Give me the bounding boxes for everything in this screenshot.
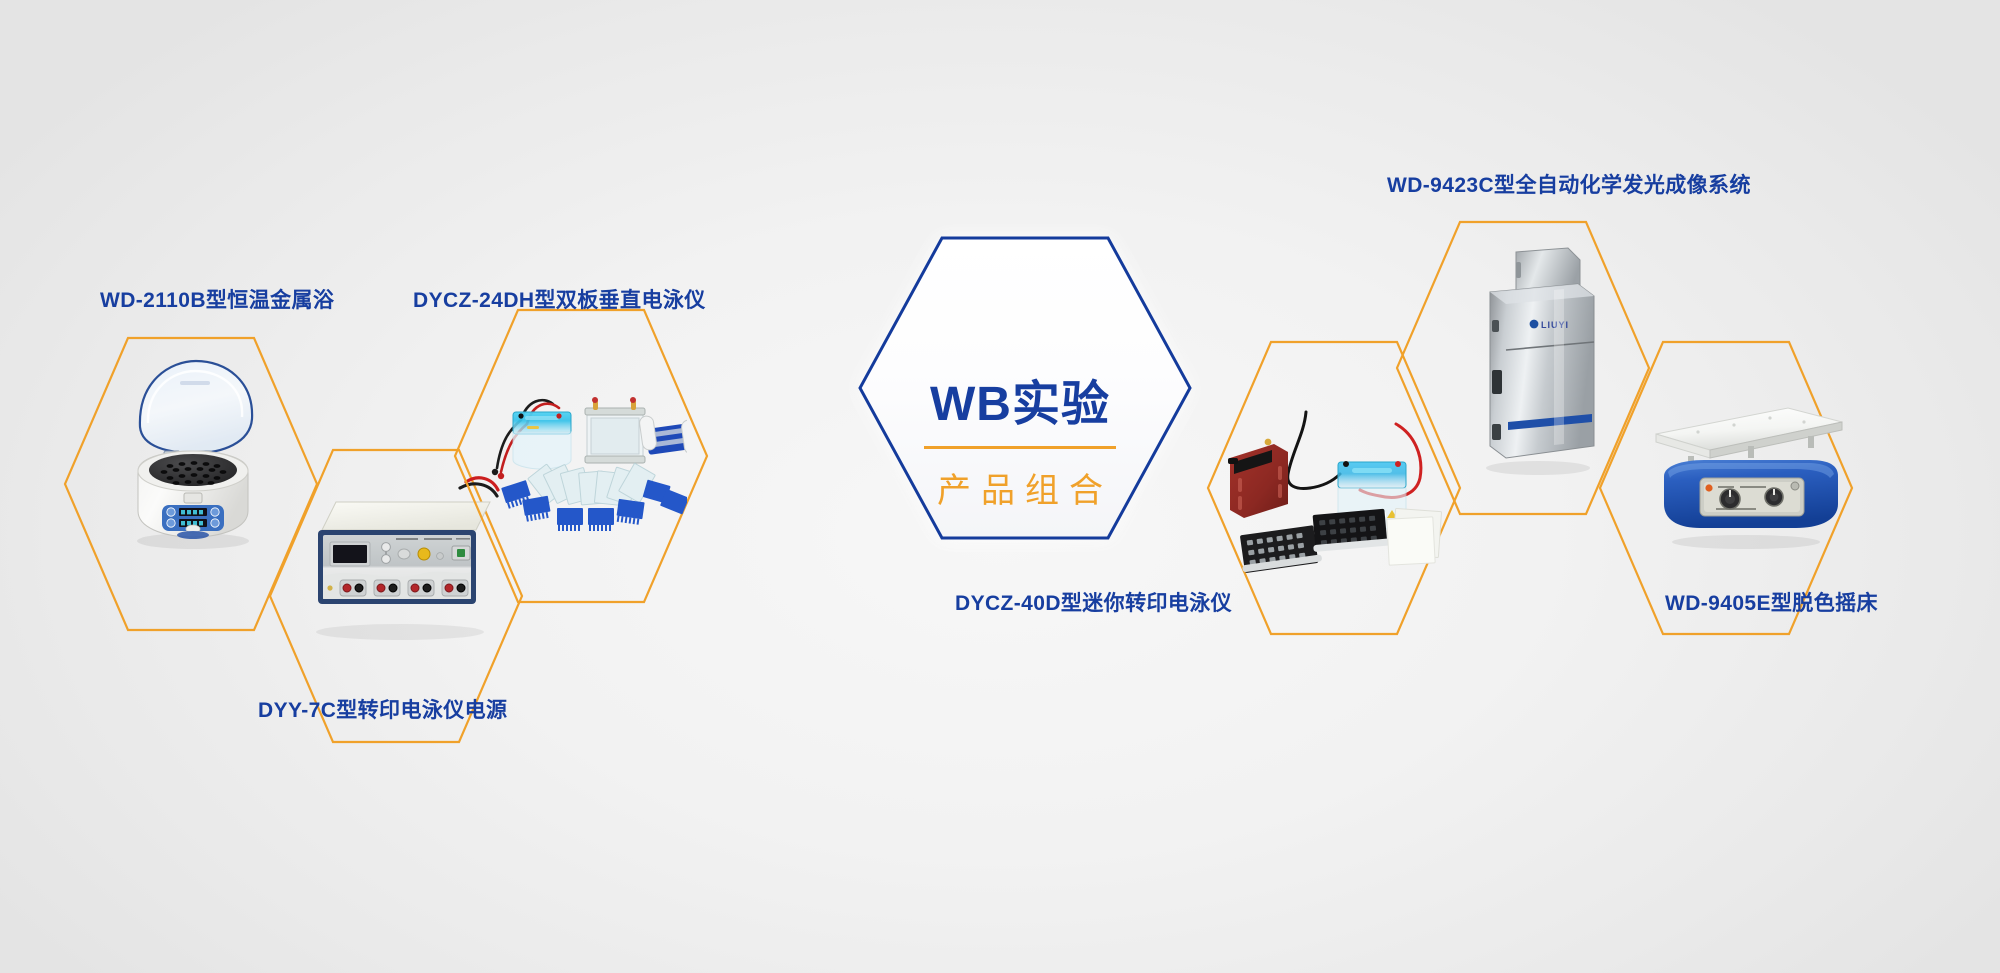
- down-button[interactable]: [382, 555, 391, 564]
- poster-canvas: WB实验 产品组合: [0, 0, 2000, 973]
- power-indicator: [1791, 482, 1799, 490]
- product-image-wd-2110b: [118, 355, 268, 555]
- side-port-lower: [1492, 424, 1501, 440]
- label-dyy-7c: DYY-7C型转印电泳仪电源: [258, 694, 507, 724]
- label-wd-2110b: WD-2110B型恒温金属浴: [100, 284, 334, 314]
- lid: [140, 361, 252, 453]
- side-port-upper: [1492, 320, 1499, 332]
- display-screen: [333, 545, 367, 563]
- label-wd-9423c: WD-9423C型全自动化学发光成像系统: [1387, 169, 1751, 199]
- product-image-dycz-24dh: [487, 372, 687, 532]
- cassette-grid-grey: [1238, 525, 1323, 574]
- cassette-grid-black: [1311, 508, 1392, 552]
- center-text-block: WB实验 产品组合: [880, 380, 1160, 512]
- door-handle[interactable]: [1492, 370, 1502, 394]
- function-button[interactable]: [398, 549, 410, 559]
- heating-block: [149, 454, 237, 486]
- center-divider: [924, 446, 1116, 449]
- center-subtitle: 产品组合: [880, 463, 1160, 512]
- control-panel[interactable]: [1700, 478, 1804, 516]
- cabinet-body: [1490, 284, 1594, 458]
- black-cable: [1288, 412, 1310, 488]
- product-image-wd-9405e: [1638, 400, 1844, 550]
- center-title: WB实验: [880, 380, 1160, 430]
- gel-clamp: [639, 415, 687, 455]
- filter-papers: [1387, 508, 1442, 565]
- electrophoresis-tank: [513, 410, 571, 469]
- output-jacks[interactable]: [327, 580, 468, 596]
- label-dycz-40d: DYCZ-40D型迷你转印电泳仪: [955, 587, 1232, 617]
- transfer-cassette-red: [1228, 439, 1288, 518]
- label-wd-9405e: WD-9405E型脱色摇床: [1665, 587, 1878, 617]
- start-button[interactable]: [418, 548, 430, 560]
- label-dycz-24dh: DYCZ-24DH型双板垂直电泳仪: [413, 284, 706, 314]
- product-image-wd-9423c: LIUYI: [1458, 246, 1608, 476]
- casting-frame: [585, 397, 645, 463]
- up-button[interactable]: [382, 543, 391, 552]
- indicator: [437, 553, 444, 560]
